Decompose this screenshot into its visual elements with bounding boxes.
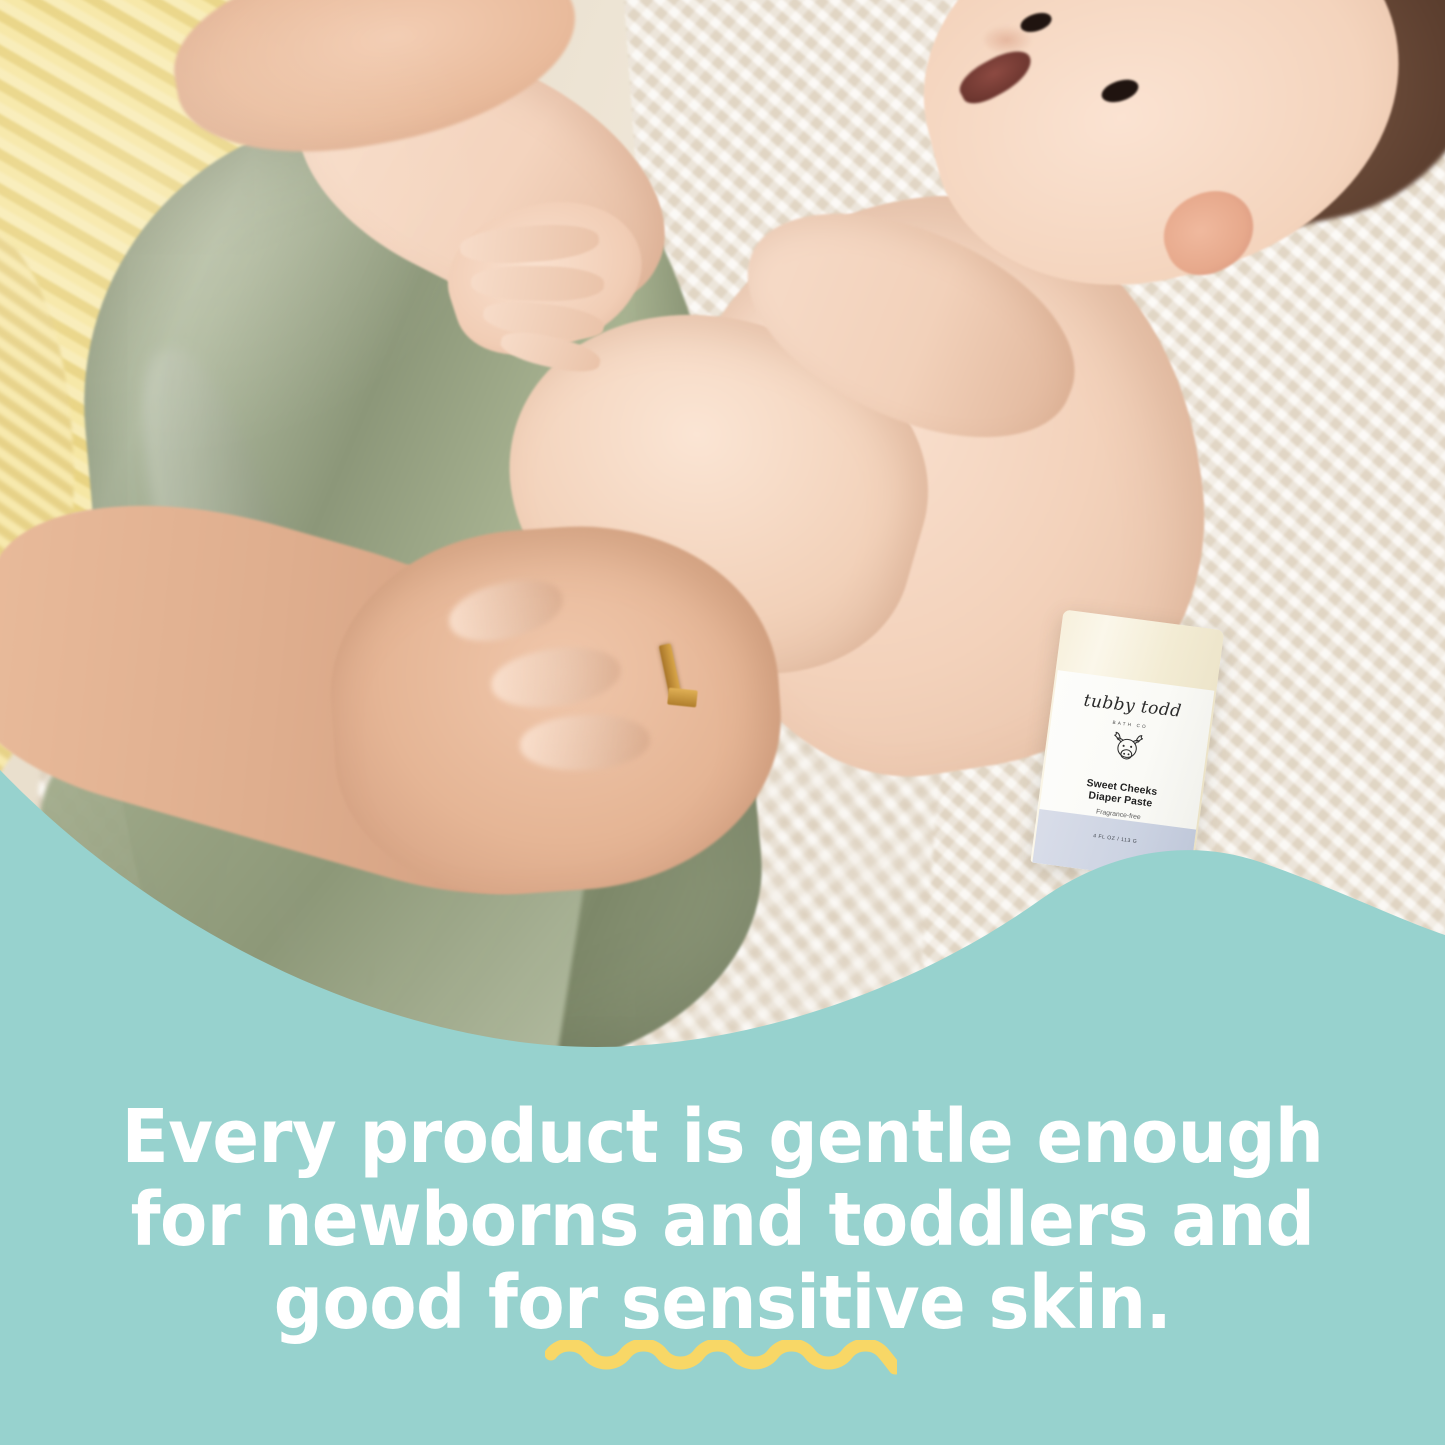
headline: Every product is gentle enough for newbo… [51, 1096, 1395, 1345]
moose-icon [1103, 728, 1151, 767]
lifestyle-photo: tubby todd BATH CO Sweet Cheeks [0, 0, 1445, 1100]
marketing-graphic: tubby todd BATH CO Sweet Cheeks [0, 0, 1445, 1445]
headline-line-3: good for sensitive skin. [51, 1262, 1395, 1345]
product-tube: tubby todd BATH CO Sweet Cheeks [1030, 609, 1224, 883]
headline-line-1: Every product is gentle enough [51, 1096, 1395, 1179]
squiggle-path [551, 1345, 895, 1368]
gold-ring-bar [667, 687, 697, 706]
wavy-underline-icon [545, 1340, 897, 1384]
headline-line-2: for newborns and toddlers and [51, 1179, 1395, 1262]
